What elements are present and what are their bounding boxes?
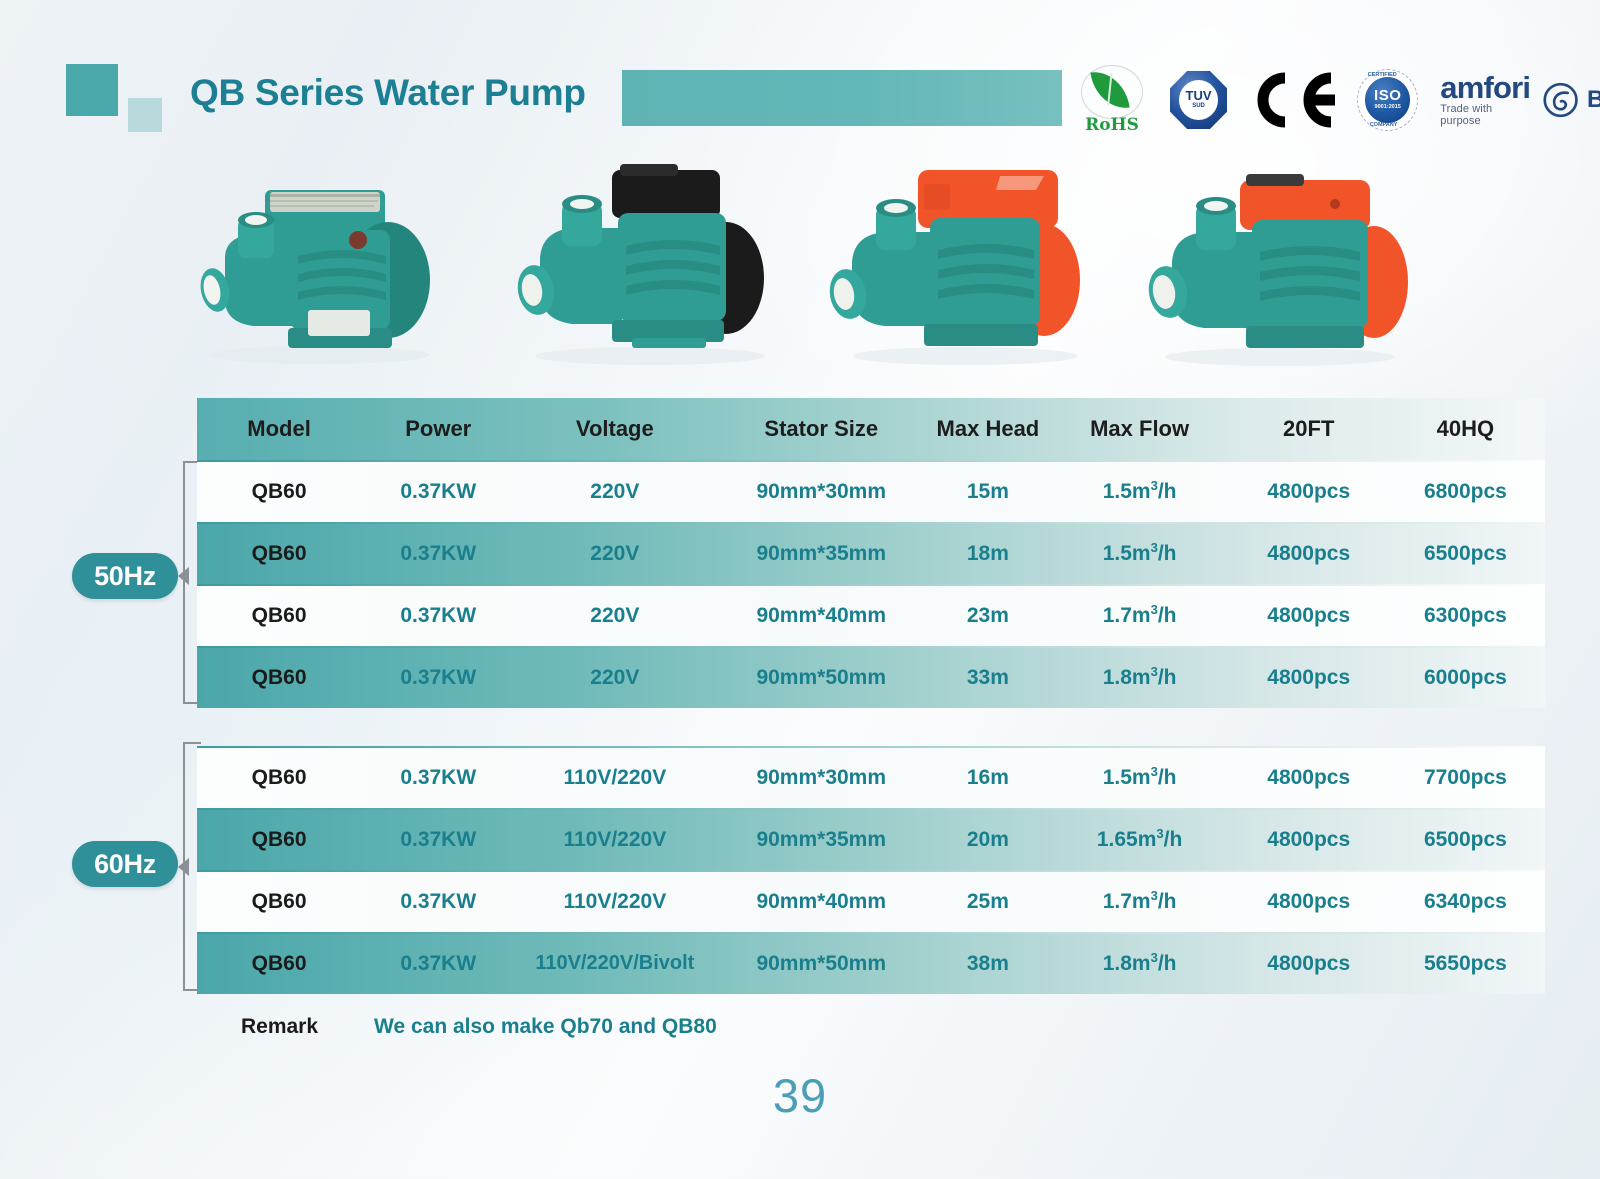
column-header-voltage: Voltage — [515, 418, 714, 440]
cell-power: 0.37KW — [361, 543, 515, 564]
cell-40hq: 6300pcs — [1386, 605, 1545, 626]
cell-model: QB60 — [197, 891, 361, 912]
cell-model: QB60 — [197, 767, 361, 788]
cell-voltage: 110V/220V — [515, 891, 714, 912]
pump-photo-3 — [820, 158, 1090, 373]
cell-voltage: 110V/220V/Bivolt — [515, 953, 714, 973]
cell-power: 0.37KW — [361, 667, 515, 688]
table-row: QB60 0.37KW 220V 90mm*35mm 18m 1.5m3/h 4… — [197, 522, 1545, 584]
frequency-badge-60hz: 60Hz — [72, 841, 178, 887]
cell-stator-size: 90mm*40mm — [714, 605, 928, 626]
iso-icon: CERTIFIED COMPANY ISO 9001:2015 — [1357, 69, 1418, 131]
cell-40hq: 6800pcs — [1386, 481, 1545, 502]
page-number: 39 — [0, 1068, 1600, 1123]
cell-40hq: 5650pcs — [1386, 953, 1545, 974]
pump-photo-4 — [1130, 162, 1410, 374]
cell-stator-size: 90mm*35mm — [714, 543, 928, 564]
table-row: QB60 0.37KW 220V 90mm*30mm 15m 1.5m3/h 4… — [197, 460, 1545, 522]
column-header-max-head: Max Head — [928, 418, 1047, 440]
certification-logos: RoHS TUV SUD — [1075, 62, 1600, 138]
cell-model: QB60 — [197, 667, 361, 688]
title-accent-bar — [622, 70, 1062, 126]
tuv-label: TUV — [1186, 89, 1212, 102]
cell-max-head: 23m — [928, 605, 1047, 626]
ce-icon — [1249, 72, 1335, 128]
cell-stator-size: 90mm*30mm — [714, 481, 928, 502]
cell-max-flow: 1.5m3/h — [1048, 767, 1232, 788]
cell-40hq: 7700pcs — [1386, 767, 1545, 788]
cell-40hq: 6500pcs — [1386, 543, 1545, 564]
cell-20ft: 4800pcs — [1232, 667, 1386, 688]
cell-model: QB60 — [197, 605, 361, 626]
cell-20ft: 4800pcs — [1232, 543, 1386, 564]
cell-power: 0.37KW — [361, 767, 515, 788]
cell-model: QB60 — [197, 543, 361, 564]
cell-voltage: 220V — [515, 605, 714, 626]
group-separator — [197, 708, 1545, 746]
cell-voltage: 110V/220V — [515, 767, 714, 788]
decorative-square-large — [66, 64, 118, 116]
cell-max-flow: 1.5m3/h — [1048, 543, 1232, 564]
cell-voltage: 220V — [515, 543, 714, 564]
pump-photo-1 — [170, 160, 440, 370]
table-row: QB60 0.37KW 220V 90mm*40mm 23m 1.7m3/h 4… — [197, 584, 1545, 646]
column-header-20ft: 20FT — [1232, 418, 1386, 440]
product-photo-strip — [150, 150, 1530, 390]
specification-table: Model Power Voltage Stator Size Max Head… — [197, 398, 1545, 994]
cell-power: 0.37KW — [361, 605, 515, 626]
group-bracket-arrow-50hz — [178, 567, 189, 585]
iso-label: ISO — [1374, 88, 1401, 103]
cell-voltage: 220V — [515, 667, 714, 688]
column-header-power: Power — [361, 418, 515, 440]
rohs-label: RoHS — [1075, 115, 1149, 135]
cell-40hq: 6000pcs — [1386, 667, 1545, 688]
amfori-wordmark: amfori — [1440, 73, 1533, 102]
rohs-icon: RoHS — [1075, 65, 1148, 135]
cell-voltage: 220V — [515, 481, 714, 502]
cell-power: 0.37KW — [361, 481, 515, 502]
cell-max-flow: 1.65m3/h — [1048, 829, 1232, 850]
cell-voltage: 110V/220V — [515, 829, 714, 850]
tuv-sublabel: SUD — [1192, 102, 1205, 110]
remark-text: We can also make Qb70 and QB80 — [374, 1015, 717, 1039]
pump-photo-2 — [500, 158, 780, 373]
cell-stator-size: 90mm*30mm — [714, 767, 928, 788]
cell-max-head: 33m — [928, 667, 1047, 688]
cell-max-head: 38m — [928, 953, 1047, 974]
cell-max-head: 16m — [928, 767, 1047, 788]
page-title: QB Series Water Pump — [190, 72, 586, 114]
cell-max-flow: 1.8m3/h — [1048, 953, 1232, 974]
cell-max-head: 20m — [928, 829, 1047, 850]
amfori-bsci-icon: amfori Trade with purpose BSCI — [1440, 73, 1600, 127]
cell-20ft: 4800pcs — [1232, 767, 1386, 788]
column-header-stator-size: Stator Size — [714, 418, 928, 440]
cell-max-head: 15m — [928, 481, 1047, 502]
cell-power: 0.37KW — [361, 953, 515, 974]
cell-20ft: 4800pcs — [1232, 953, 1386, 974]
decorative-square-small — [128, 98, 162, 132]
catalog-page: QB Series Water Pump RoHS TUV SUD — [0, 0, 1600, 1179]
cell-max-head: 18m — [928, 543, 1047, 564]
cell-40hq: 6340pcs — [1386, 891, 1545, 912]
column-header-40hq: 40HQ — [1386, 418, 1545, 440]
cell-20ft: 4800pcs — [1232, 891, 1386, 912]
cell-power: 0.37KW — [361, 891, 515, 912]
table-row: QB60 0.37KW 110V/220V/Bivolt 90mm*50mm 3… — [197, 932, 1545, 994]
cell-20ft: 4800pcs — [1232, 605, 1386, 626]
cell-20ft: 4800pcs — [1232, 481, 1386, 502]
cell-stator-size: 90mm*35mm — [714, 829, 928, 850]
cell-max-flow: 1.8m3/h — [1048, 667, 1232, 688]
group-bracket-arrow-60hz — [178, 858, 189, 876]
frequency-badge-50hz: 50Hz — [72, 553, 178, 599]
cell-stator-size: 90mm*40mm — [714, 891, 928, 912]
cell-model: QB60 — [197, 481, 361, 502]
cell-model: QB60 — [197, 829, 361, 850]
column-header-max-flow: Max Flow — [1048, 418, 1232, 440]
table-row: QB60 0.37KW 110V/220V 90mm*40mm 25m 1.7m… — [197, 870, 1545, 932]
cell-stator-size: 90mm*50mm — [714, 667, 928, 688]
remark-label: Remark — [197, 1015, 362, 1039]
iso-standard: 9001:2015 — [1375, 103, 1401, 112]
bsci-label: BSCI — [1587, 86, 1600, 114]
table-row: QB60 0.37KW 110V/220V 90mm*30mm 16m 1.5m… — [197, 746, 1545, 808]
cell-model: QB60 — [197, 953, 361, 974]
table-row: QB60 0.37KW 110V/220V 90mm*35mm 20m 1.65… — [197, 808, 1545, 870]
amfori-tagline: Trade with purpose — [1440, 103, 1533, 127]
cell-max-head: 25m — [928, 891, 1047, 912]
table-row: QB60 0.37KW 220V 90mm*50mm 33m 1.8m3/h 4… — [197, 646, 1545, 708]
cell-40hq: 6500pcs — [1386, 829, 1545, 850]
cell-max-flow: 1.7m3/h — [1048, 605, 1232, 626]
cell-max-flow: 1.7m3/h — [1048, 891, 1232, 912]
table-header-row: Model Power Voltage Stator Size Max Head… — [197, 398, 1545, 460]
cell-power: 0.37KW — [361, 829, 515, 850]
cell-stator-size: 90mm*50mm — [714, 953, 928, 974]
remark-row: Remark We can also make Qb70 and QB80 — [197, 1005, 1545, 1049]
column-header-model: Model — [197, 418, 361, 440]
cell-20ft: 4800pcs — [1232, 829, 1386, 850]
tuv-icon: TUV SUD — [1170, 71, 1227, 129]
page-header: QB Series Water Pump RoHS TUV SUD — [0, 0, 1600, 150]
cell-max-flow: 1.5m3/h — [1048, 481, 1232, 502]
amfori-spiral-icon — [1543, 82, 1578, 118]
